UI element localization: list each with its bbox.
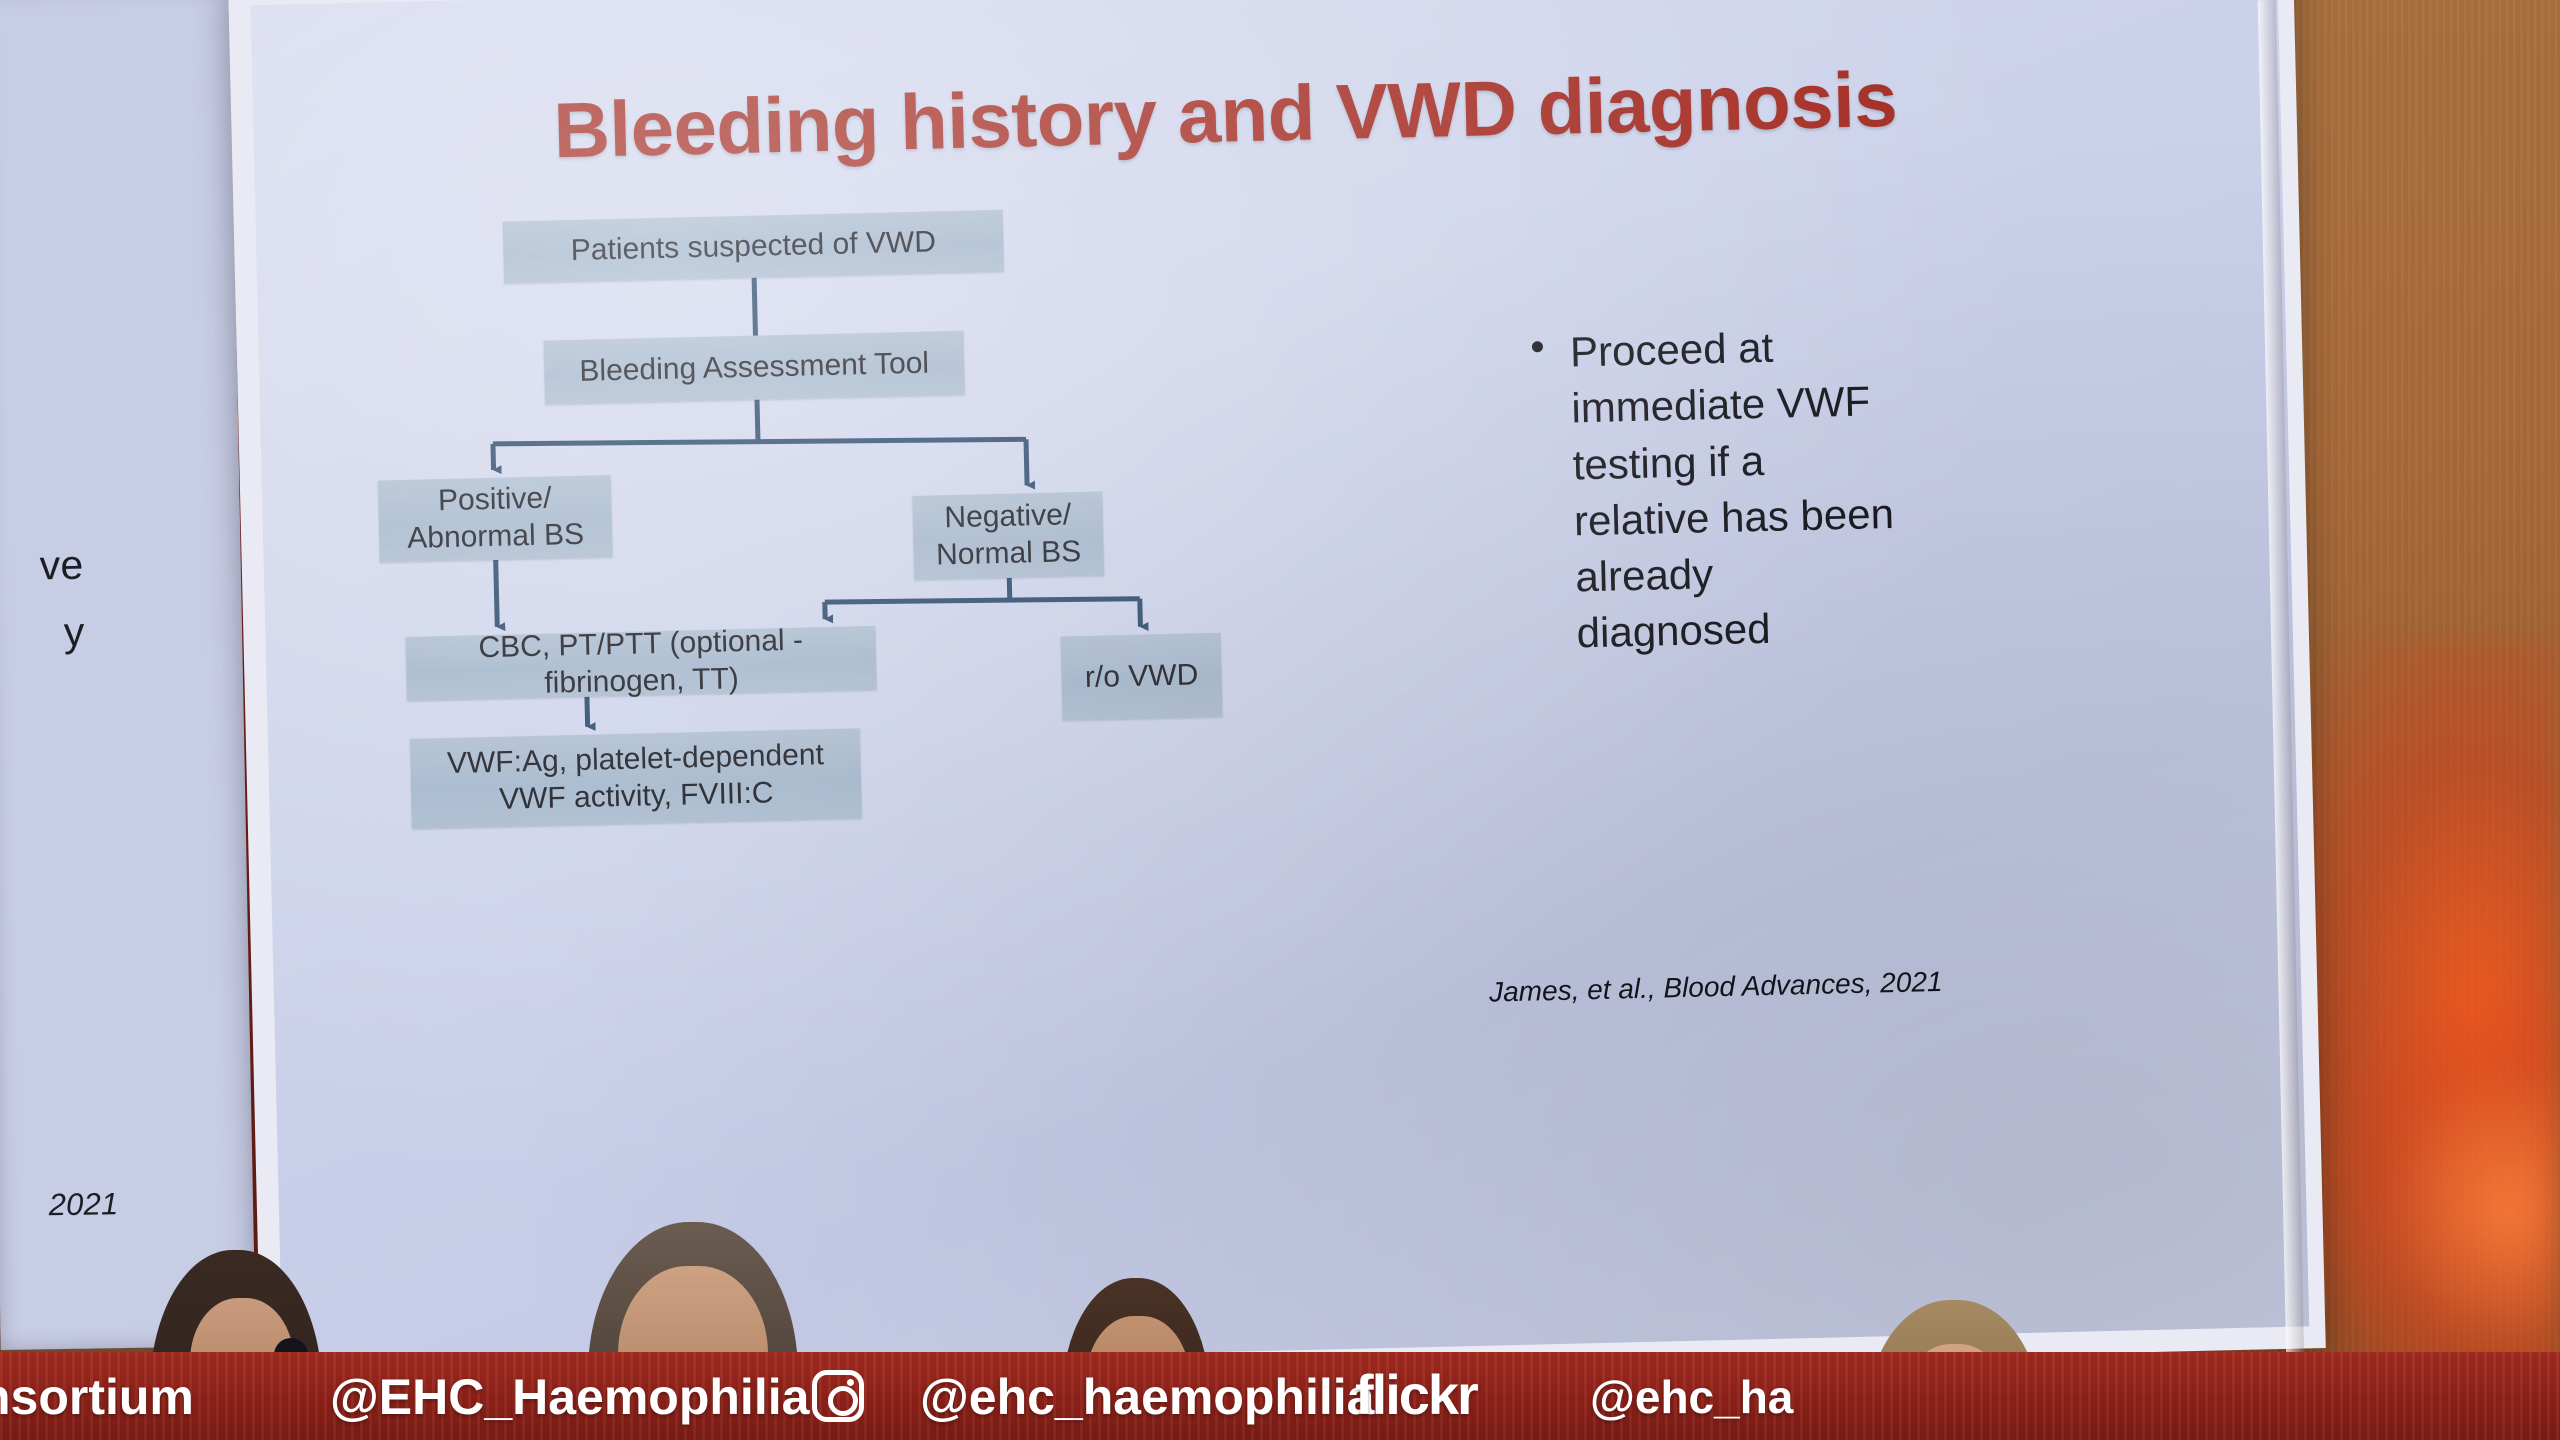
- banner-text-consortium: nsortium: [0, 1368, 194, 1426]
- flow-node-negative-normal-bs[interactable]: Negative/ Normal BS: [912, 492, 1104, 580]
- photo-of-conference-screen: ve y 2021 Bleeding history and VWD diagn…: [0, 0, 2560, 1440]
- flow-node-positive-abnormal-bs[interactable]: Positive/ Abnormal BS: [378, 475, 613, 562]
- prev-slide-fragment-line3: y: [0, 609, 85, 658]
- banner-twitter-handle: @EHC_Haemophilia: [330, 1368, 809, 1426]
- flowchart: Patients suspected of VWD Bleeding Asses…: [251, 0, 2310, 1374]
- adjacent-screen-sliver: ve y 2021: [0, 0, 271, 1350]
- bottom-red-banner: nsortium @EHC_Haemophilia @ehc_haemophil…: [0, 1352, 2560, 1440]
- banner-flickr-logo: flickr: [1355, 1362, 1477, 1427]
- flow-node-ro-vwd[interactable]: r/o VWD: [1061, 633, 1223, 721]
- bullet-list: Proceed at immediate VWF testing if a re…: [1533, 317, 1901, 663]
- flow-node-vwf-ag-panel[interactable]: VWF:Ag, platelet-dependent VWF activity,…: [410, 728, 862, 829]
- bullet-dot-icon: [1532, 341, 1543, 352]
- instagram-icon: [812, 1370, 864, 1422]
- prev-slide-fragment-citation: 2021: [0, 1186, 119, 1225]
- instagram-icon-ring: [828, 1386, 858, 1416]
- presentation-slide: Bleeding history and VWD diagnosis: [251, 0, 2310, 1374]
- banner-instagram-handle: @ehc_haemophilia: [920, 1368, 1374, 1426]
- flow-node-bleeding-assessment-tool[interactable]: Bleeding Assessment Tool: [544, 331, 965, 405]
- flow-node-cbc-pt-ptt[interactable]: CBC, PT/PTT (optional - fibrinogen, TT): [405, 626, 876, 701]
- banner-flickr-handle: @ehc_ha: [1590, 1370, 1793, 1424]
- bullet-item-text: Proceed at immediate VWF testing if a re…: [1569, 317, 1901, 662]
- prev-slide-fragment-line2: ve: [0, 542, 84, 591]
- projection-screen: Bleeding history and VWD diagnosis: [228, 0, 2326, 1397]
- flow-node-patients-suspected[interactable]: Patients suspected of VWD: [503, 210, 1004, 284]
- instagram-icon-dot: [847, 1379, 854, 1386]
